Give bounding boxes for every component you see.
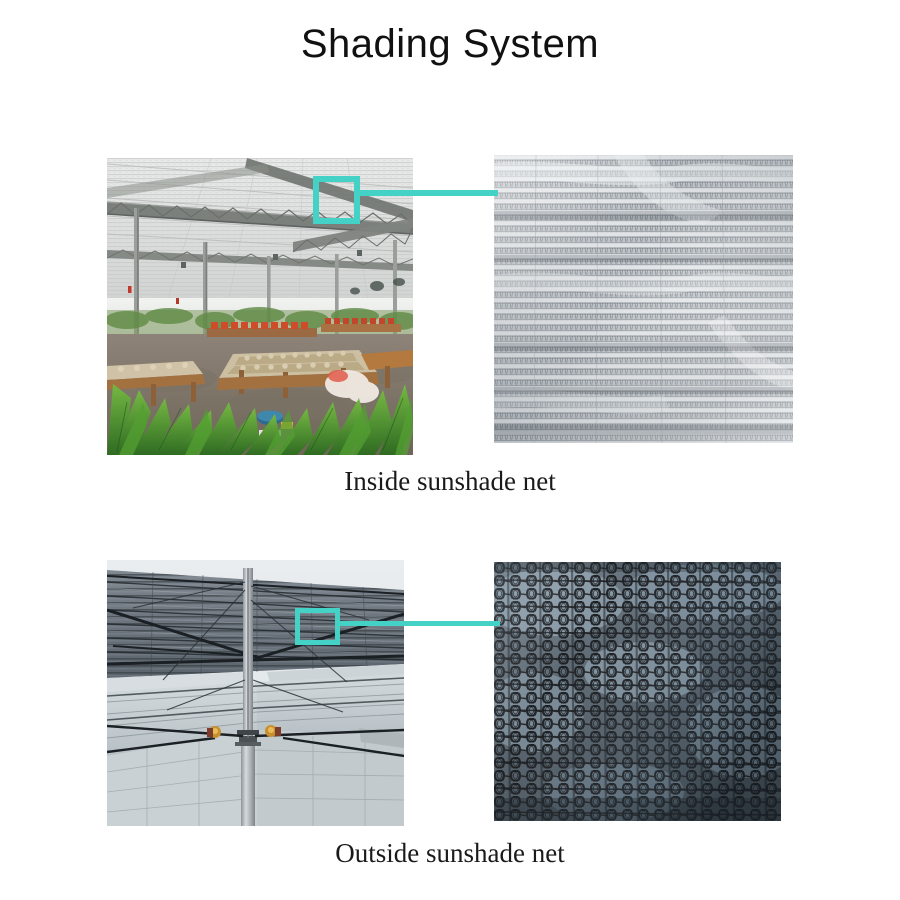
greenhouse-interior-photo — [107, 158, 413, 455]
shading-system-slide: Shading System — [0, 0, 900, 900]
caption-outside-sunshade-net: Outside sunshade net — [0, 838, 900, 869]
greenhouse-exterior-photo — [107, 560, 404, 826]
caption-inside-sunshade-net: Inside sunshade net — [0, 466, 900, 497]
black-net-artwork — [494, 562, 781, 821]
silver-shade-net-closeup — [494, 155, 793, 443]
greenhouse-interior-artwork — [107, 158, 413, 455]
silver-net-artwork — [494, 155, 793, 443]
greenhouse-exterior-artwork — [107, 560, 404, 826]
page-title: Shading System — [0, 22, 900, 67]
black-shade-net-closeup — [494, 562, 781, 821]
